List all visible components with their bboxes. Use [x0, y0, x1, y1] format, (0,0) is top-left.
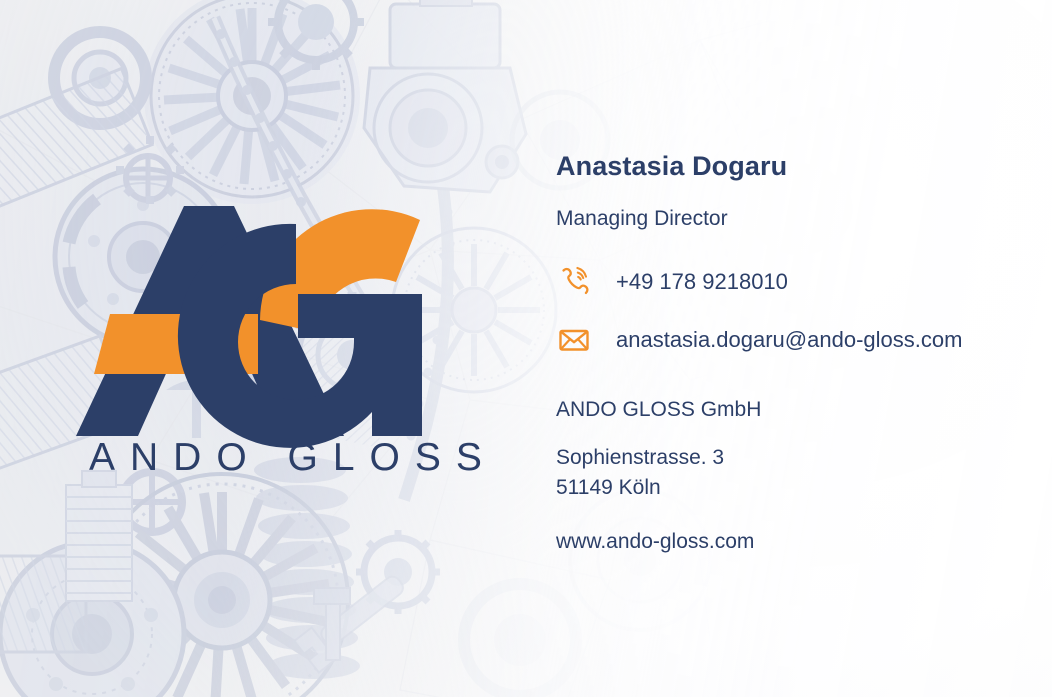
envelope-icon	[556, 320, 596, 360]
company-name: ANDO GLOSS GmbH	[556, 362, 1026, 421]
contact-info-block: Anastasia Dogaru Managing Director +49 1…	[556, 152, 1026, 553]
email-row[interactable]: anastasia.dogaru@ando-gloss.com	[556, 318, 1026, 362]
phone-row[interactable]: +49 178 9218010	[556, 260, 1026, 304]
ag-monogram-icon	[62, 186, 482, 456]
business-card: ANDO GLOSS Anastasia Dogaru Managing Dir…	[0, 0, 1052, 697]
logo-wordmark: ANDO GLOSS	[74, 438, 484, 477]
phone-icon	[556, 262, 596, 302]
website-url[interactable]: www.ando-gloss.com	[556, 504, 1026, 553]
email-address[interactable]: anastasia.dogaru@ando-gloss.com	[596, 328, 962, 352]
person-job-title: Managing Director	[556, 182, 1026, 230]
company-logo: ANDO GLOSS	[62, 186, 482, 516]
address-line-2: 51149 Köln	[556, 473, 1026, 503]
phone-number[interactable]: +49 178 9218010	[596, 270, 788, 294]
person-name: Anastasia Dogaru	[556, 152, 1026, 182]
address-line-1: Sophienstrasse. 3	[556, 443, 1026, 473]
postal-address: Sophienstrasse. 3 51149 Köln	[556, 421, 1026, 504]
